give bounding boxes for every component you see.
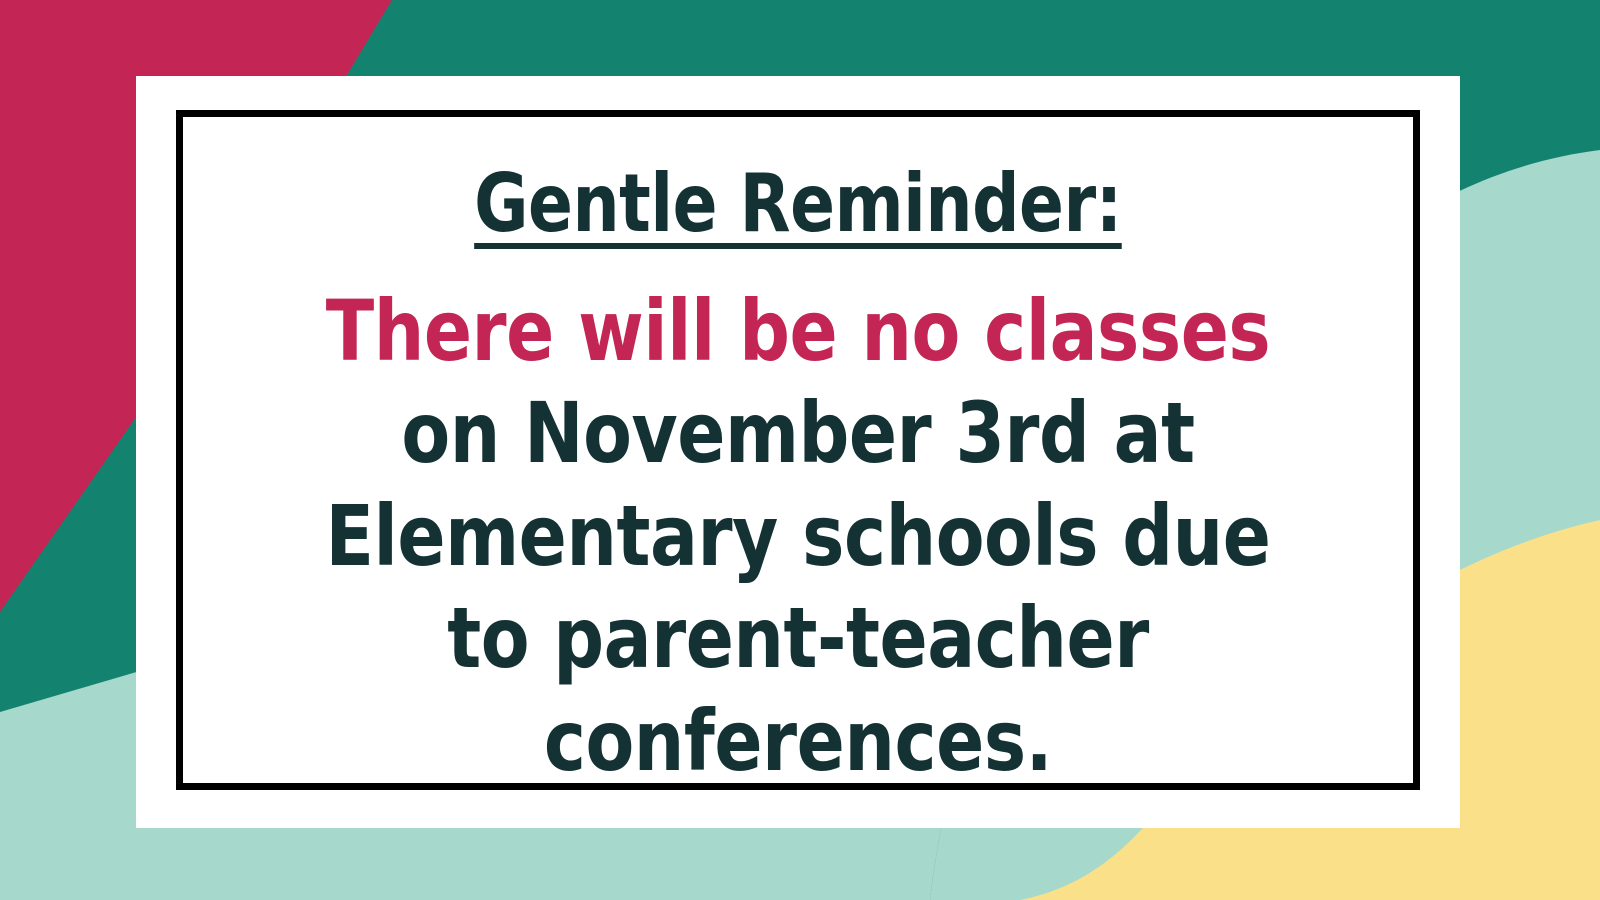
page-title: Gentle Reminder: [474,164,1122,246]
rest-phrase: on November 3rd at Elementary schools du… [325,384,1270,789]
poster-canvas: Gentle Reminder: There will be no classe… [0,0,1600,900]
announcement-card: Gentle Reminder: There will be no classe… [136,76,1460,828]
card-content: Gentle Reminder: There will be no classe… [176,110,1420,790]
announcement-body: There will be no classes on November 3rd… [300,280,1296,792]
accent-phrase: There will be no classes [326,282,1271,380]
